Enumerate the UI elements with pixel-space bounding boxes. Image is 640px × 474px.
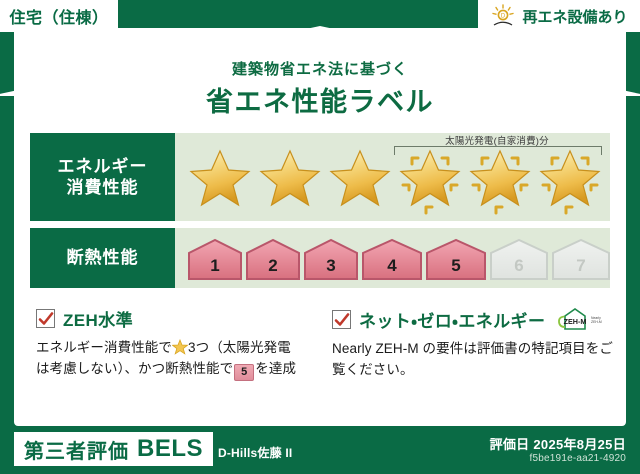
svg-text:ZEH-M: ZEH-M [564,317,587,326]
insulation-level-3: 3 [303,237,359,281]
zeh-standard-description: エネルギー消費性能で3つ（太陽光発電は考慮しない）、かつ断熱性能で5を達成 [36,338,324,381]
insulation-performance-label-box: 断熱性能 [30,228,175,288]
bels-badge: 第三者評価 BELS [14,432,213,466]
insulation-level-number: 3 [326,256,335,281]
star-solar-icon [465,145,535,215]
energy-performance-row: エネルギー 消費性能 太陽光発電(自家消費)分 [30,133,610,221]
building-type-tag: 住宅（住棟） [0,0,118,32]
zeh-desc-part-a: エネルギー消費性能で [36,340,172,355]
bels-label: BELS [137,435,203,463]
renewable-equipment-label: 再エネ設備あり [522,6,627,27]
insulation-level-number: 2 [268,256,277,281]
energy-label-line1: エネルギー [58,156,148,177]
insulation-level-number: 6 [514,256,523,281]
insulation-level-4: 4 [361,237,423,281]
star-filled-icon [325,145,395,215]
footer: 第三者評価 BELS D-Hills佐藤 II 評価日 2025年8月25日 f… [0,426,640,474]
title-subtitle: 建築物省エネ法に基づく [14,58,626,79]
insulation-level-1: 1 [187,237,243,281]
energy-performance-label: 住宅（住棟） D 再エネ設備あり 建築物省エネ法に基づく 省エネ性能ラベル [0,0,640,474]
net-zero-energy-title: ネット・ゼロ・エネルギー [359,307,545,332]
insulation-level-number: 7 [576,256,585,281]
building-name: D-Hills佐藤 II [218,444,292,461]
insulation-level-6: 6 [489,237,549,281]
page-title: 省エネ性能ラベル [14,80,626,119]
third-party-eval-label: 第三者評価 [24,435,129,464]
star-filled-icon [185,145,255,215]
insulation-level-number: 5 [451,256,460,281]
insulation-level-5: 5 [425,237,487,281]
inline-star-icon [172,339,188,355]
insulation-level-2: 2 [245,237,301,281]
building-type-label: 住宅（住棟） [9,4,108,28]
zeh-m-logo-icon: ZEH-M Nearly ZEH-M [555,306,607,332]
svg-text:ZEH-M: ZEH-M [591,320,602,324]
evaluation-date: 評価日 2025年8月25日 [490,434,626,453]
zeh-desc-part-c: を達成 [255,361,296,376]
energy-performance-label-box: エネルギー 消費性能 [30,133,175,221]
energy-label-line2: 消費性能 [67,177,139,198]
star-rating [185,145,605,215]
insulation-level-number: 1 [210,256,219,281]
insulation-label: 断熱性能 [67,247,139,268]
zeh-standard-block: ZEH水準 エネルギー消費性能で3つ（太陽光発電は考慮しない）、かつ断熱性能で5… [36,306,324,381]
svg-text:D: D [501,14,506,20]
insulation-performance-row: 断熱性能 1 [30,228,610,288]
net-zero-energy-header: ネット・ゼロ・エネルギー ZEH-M Nearly ZEH-M [332,306,620,332]
insulation-level-scale: 1 2 3 [187,236,613,281]
insulation-rating-area: 1 2 3 [175,228,610,288]
insulation-level-number: 4 [387,256,396,281]
star-filled-icon [255,145,325,215]
star-solar-icon [535,145,605,215]
star-solar-icon [395,145,465,215]
inline-level-badge: 5 [234,364,254,381]
zeh-standard-checkbox[interactable] [36,309,55,328]
zeh-standard-header: ZEH水準 [36,306,324,331]
net-zero-energy-checkbox[interactable] [332,310,351,329]
net-zero-energy-description: Nearly ZEH-M の要件は評価書の特記項目をご覧ください。 [332,339,620,381]
sun-renewable-icon: D [490,4,516,28]
zeh-desc-part-b: は考慮しない）、かつ断熱性能で [36,361,233,376]
evaluation-id: f5be191e-aa21-4920 [530,453,626,464]
zeh-desc-part-star: 3つ（太陽光発電 [188,340,291,355]
insulation-level-7: 7 [551,237,611,281]
net-zero-energy-block: ネット・ゼロ・エネルギー ZEH-M Nearly ZEH-M Nearly Z… [332,306,620,381]
renewable-equipment-tag: D 再エネ設備あり [478,0,640,32]
zeh-standard-title: ZEH水準 [63,306,133,331]
main-panel: 建築物省エネ法に基づく 省エネ性能ラベル エネルギー 消費性能 太陽光発電(自家… [14,28,626,426]
energy-rating-area: 太陽光発電(自家消費)分 [175,133,610,221]
